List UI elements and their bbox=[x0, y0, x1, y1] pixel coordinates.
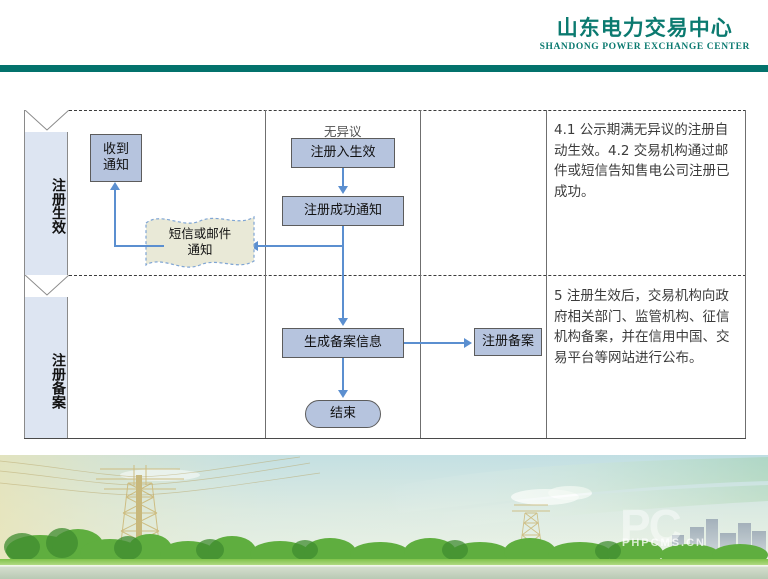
connector-filing-to-end bbox=[342, 358, 344, 392]
document-sms-or-email-notice[interactable]: 短信或邮件 通知 bbox=[144, 211, 256, 273]
logo-english-title: SHANDONG POWER EXCHANGE CENTER bbox=[540, 42, 750, 52]
process-flow-table: 注册生效 注册备案 无异议 注册入生效 注册成功通知 短信或邮件 通知 bbox=[24, 110, 746, 439]
table-top-dashed-border bbox=[64, 110, 746, 111]
node-label: 注册备案 bbox=[482, 334, 534, 350]
description-registration-effective: 4.1 公示期满无异议的注册自动生效。4.2 交易机构通过邮件或短信告知售电公司… bbox=[554, 120, 736, 202]
connector-doc-to-receive-h bbox=[114, 245, 164, 247]
node-label: 结束 bbox=[330, 406, 356, 422]
table-right-border bbox=[745, 110, 746, 438]
connector-effective-to-success bbox=[342, 168, 344, 188]
node-registration-effective[interactable]: 注册入生效 bbox=[291, 138, 395, 168]
stage-label-registration-filing: 注册备案 bbox=[25, 327, 67, 435]
chevron-notch-icon bbox=[25, 275, 69, 297]
site-logo: 山东电力交易中心 SHANDONG POWER EXCHANGE CENTER bbox=[540, 16, 750, 52]
arrow-down-icon bbox=[338, 318, 348, 326]
arrow-right-icon bbox=[464, 338, 472, 348]
column-divider-1 bbox=[265, 110, 266, 438]
node-label: 注册入生效 bbox=[310, 145, 375, 161]
node-end[interactable]: 结束 bbox=[305, 400, 381, 428]
sidebar-item-registration-effective[interactable]: 注册生效 bbox=[24, 110, 68, 275]
arrow-down-icon bbox=[338, 390, 348, 398]
node-label: 生成备案信息 bbox=[304, 335, 382, 351]
connector-filing-right bbox=[404, 342, 466, 344]
node-receive-notice[interactable]: 收到 通知 bbox=[90, 134, 142, 182]
connector-success-left bbox=[256, 245, 344, 247]
logo-chinese-title: 山东电力交易中心 bbox=[540, 16, 750, 40]
node-label: 注册成功通知 bbox=[304, 203, 382, 219]
node-generate-filing-info[interactable]: 生成备案信息 bbox=[282, 328, 404, 358]
node-registration-filing[interactable]: 注册备案 bbox=[474, 328, 542, 356]
node-registration-success-notice[interactable]: 注册成功通知 bbox=[282, 196, 404, 226]
description-registration-filing: 5 注册生效后，交易机构向政府相关部门、监管机构、征信机构备案，并在信用中国、交… bbox=[554, 286, 736, 368]
stage-label-registration-effective: 注册生效 bbox=[25, 146, 67, 266]
connector-to-generate-filing bbox=[342, 226, 344, 320]
column-divider-2 bbox=[420, 110, 421, 438]
document-label: 短信或邮件 通知 bbox=[169, 226, 232, 259]
table-bottom-border bbox=[24, 438, 746, 439]
table-middle-dashed-divider bbox=[64, 275, 746, 276]
arrow-down-icon bbox=[338, 186, 348, 194]
chevron-notch-icon bbox=[25, 110, 69, 132]
scenic-illustration bbox=[0, 455, 768, 579]
node-label: 收到 通知 bbox=[103, 142, 129, 175]
page-header: 山东电力交易中心 SHANDONG POWER EXCHANGE CENTER bbox=[0, 0, 768, 65]
connector-doc-to-receive-v bbox=[114, 190, 116, 246]
arrow-up-icon bbox=[110, 182, 120, 190]
header-divider-bar bbox=[0, 65, 768, 72]
sidebar-item-registration-filing[interactable]: 注册备案 bbox=[24, 275, 68, 438]
footer-scenic-banner bbox=[0, 455, 768, 579]
column-divider-3 bbox=[546, 110, 547, 438]
